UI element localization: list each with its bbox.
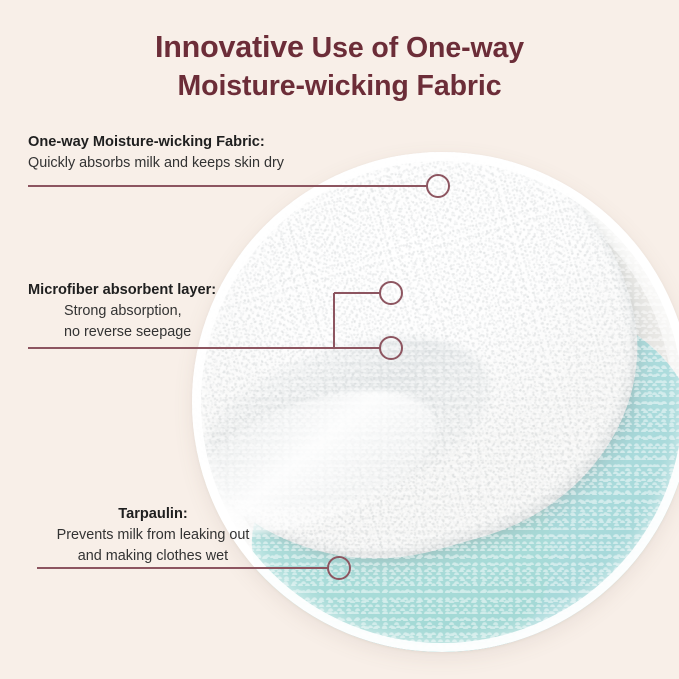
callout-2-heading: Microfiber absorbent layer: bbox=[28, 280, 216, 301]
callout-3-line-2: and making clothes wet bbox=[28, 546, 278, 567]
title-line-1: Innovative Use of One-way bbox=[0, 28, 679, 68]
callout-2-line-2: no reverse seepage bbox=[28, 322, 216, 343]
callout-1-heading: One-way Moisture-wicking Fabric: bbox=[28, 132, 284, 153]
microfiber-fleece-layer bbox=[192, 152, 679, 652]
callout-2-line-1: Strong absorption, bbox=[28, 301, 216, 322]
title-line-2: Moisture-wicking Fabric bbox=[0, 68, 679, 105]
nursing-pad-disc bbox=[192, 152, 679, 652]
infographic-canvas: Innovative Use of One-way Moisture-wicki… bbox=[0, 0, 679, 679]
title-line-1-rest: Use of One-way bbox=[304, 32, 524, 64]
callout-3-heading: Tarpaulin: bbox=[28, 504, 278, 525]
callout-3-line-1: Prevents milk from leaking out bbox=[28, 525, 278, 546]
page-title: Innovative Use of One-way Moisture-wicki… bbox=[0, 28, 679, 105]
callout-1-line-1: Quickly absorbs milk and keeps skin dry bbox=[28, 153, 284, 174]
callout-one-way-moisture-wicking-fabric: One-way Moisture-wicking Fabric: Quickly… bbox=[28, 132, 284, 174]
callout-tarpaulin: Tarpaulin: Prevents milk from leaking ou… bbox=[28, 504, 278, 566]
product-photo bbox=[192, 152, 679, 652]
callout-microfiber-absorbent-layer: Microfiber absorbent layer: Strong absor… bbox=[28, 280, 216, 342]
title-emphasis: Innovative bbox=[155, 30, 304, 64]
